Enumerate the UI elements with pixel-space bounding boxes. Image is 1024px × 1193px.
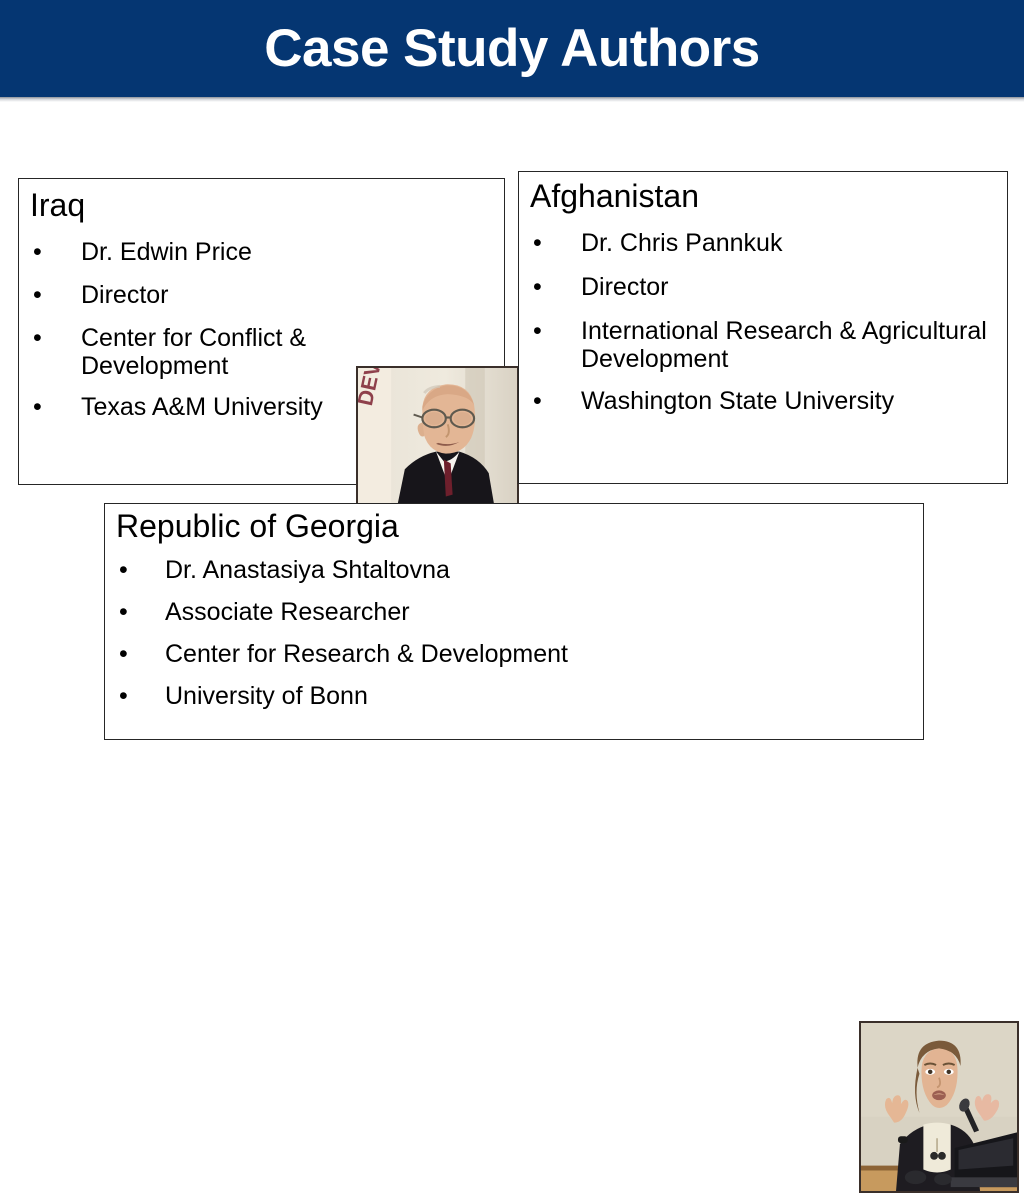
anastasiya-shtaltovna-photo bbox=[859, 1021, 1019, 1193]
bullet-icon: • bbox=[33, 324, 58, 352]
bullet-icon: • bbox=[119, 598, 144, 626]
list-item-label: Dr. Anastasiya Shtaltovna bbox=[165, 556, 819, 584]
card-georgia-bullet-list: • Dr. Anastasiya Shtaltovna • Associate … bbox=[119, 556, 819, 724]
bullet-icon: • bbox=[533, 317, 558, 345]
bullet-icon: • bbox=[33, 281, 58, 309]
card-afghanistan-title: Afghanistan bbox=[530, 180, 699, 214]
list-item: • Dr. Edwin Price bbox=[33, 238, 453, 266]
card-georgia: Republic of Georgia • Dr. Anastasiya Sht… bbox=[104, 503, 924, 740]
title-banner: Case Study Authors bbox=[0, 0, 1024, 97]
list-item: • Associate Researcher bbox=[119, 598, 819, 626]
bullet-icon: • bbox=[119, 556, 144, 584]
page-title: Case Study Authors bbox=[264, 22, 760, 75]
list-item: • Director bbox=[533, 273, 1003, 301]
list-item: • International Research & Agricultural … bbox=[533, 317, 1003, 373]
list-item-label: Associate Researcher bbox=[165, 598, 819, 626]
list-item-label: Director bbox=[581, 273, 1003, 301]
bullet-icon: • bbox=[533, 229, 558, 257]
card-afghanistan-bullet-list: • Dr. Chris Pannkuk • Director • Interna… bbox=[533, 229, 1003, 431]
list-item: • University of Bonn bbox=[119, 682, 819, 710]
bullet-icon: • bbox=[33, 393, 58, 421]
list-item-label: International Research & Agricultural De… bbox=[581, 317, 1003, 373]
list-item-label: Washington State University bbox=[581, 387, 1003, 415]
card-iraq-title: Iraq bbox=[30, 189, 85, 223]
list-item-label: Center for Research & Development bbox=[165, 640, 819, 668]
list-item: • Center for Research & Development bbox=[119, 640, 819, 668]
list-item-label: Director bbox=[81, 281, 453, 309]
list-item-label: University of Bonn bbox=[165, 682, 819, 710]
list-item: • Director bbox=[33, 281, 453, 309]
bullet-icon: • bbox=[533, 387, 558, 415]
banner-shadow-divider bbox=[0, 97, 1024, 102]
card-iraq: Iraq • Dr. Edwin Price • Director • Cent… bbox=[18, 178, 505, 485]
list-item: • Washington State University bbox=[533, 387, 1003, 415]
card-afghanistan: Afghanistan • Dr. Chris Pannkuk • Direct… bbox=[518, 171, 1008, 484]
edwin-price-photo: DEVELO bbox=[356, 366, 519, 509]
bullet-icon: • bbox=[533, 273, 558, 301]
list-item-label: Dr. Chris Pannkuk bbox=[581, 229, 1003, 257]
bullet-icon: • bbox=[119, 640, 144, 668]
list-item-label: Dr. Edwin Price bbox=[81, 238, 453, 266]
bullet-icon: • bbox=[33, 238, 58, 266]
list-item: • Dr. Anastasiya Shtaltovna bbox=[119, 556, 819, 584]
card-georgia-title: Republic of Georgia bbox=[116, 510, 399, 544]
list-item: • Dr. Chris Pannkuk bbox=[533, 229, 1003, 257]
bullet-icon: • bbox=[119, 682, 144, 710]
